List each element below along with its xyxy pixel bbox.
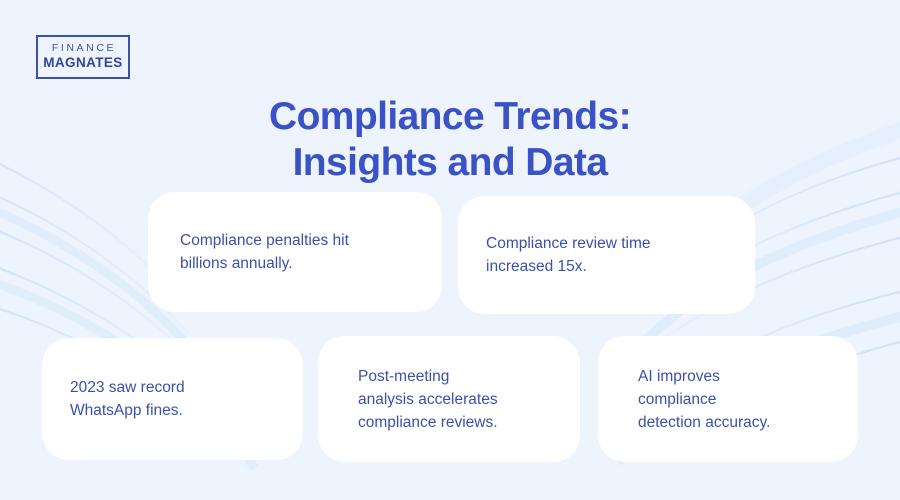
insight-card-whatsapp-fines[interactable]: 2023 saw record WhatsApp fines. — [42, 338, 303, 460]
insight-card-text: Compliance penalties hit billions annual… — [180, 229, 349, 275]
insight-card-post-meeting-analysis[interactable]: Post-meeting analysis accelerates compli… — [318, 336, 580, 462]
insight-card-text: Compliance review time increased 15x. — [486, 232, 651, 278]
finance-magnates-logo[interactable]: FINANCE MAGNATES — [36, 35, 130, 79]
insight-card-compliance-penalties[interactable]: Compliance penalties hit billions annual… — [148, 192, 442, 312]
page-title-line-1: Compliance Trends: — [0, 94, 900, 140]
logo-text-magnates: MAGNATES — [43, 55, 122, 71]
page-title-line-2: Insights and Data — [0, 140, 900, 186]
insight-card-ai-detection-accuracy[interactable]: AI improves compliance detection accurac… — [598, 336, 858, 462]
insight-card-text: AI improves compliance detection accurac… — [638, 365, 770, 434]
page-title: Compliance Trends: Insights and Data — [0, 94, 900, 186]
insight-card-text: Post-meeting analysis accelerates compli… — [358, 365, 498, 434]
logo-text-finance: FINANCE — [50, 42, 116, 55]
insight-card-compliance-review-time[interactable]: Compliance review time increased 15x. — [458, 196, 755, 314]
insight-card-text: 2023 saw record WhatsApp fines. — [70, 376, 185, 422]
slide-canvas: FINANCE MAGNATES Compliance Trends: Insi… — [0, 0, 900, 500]
